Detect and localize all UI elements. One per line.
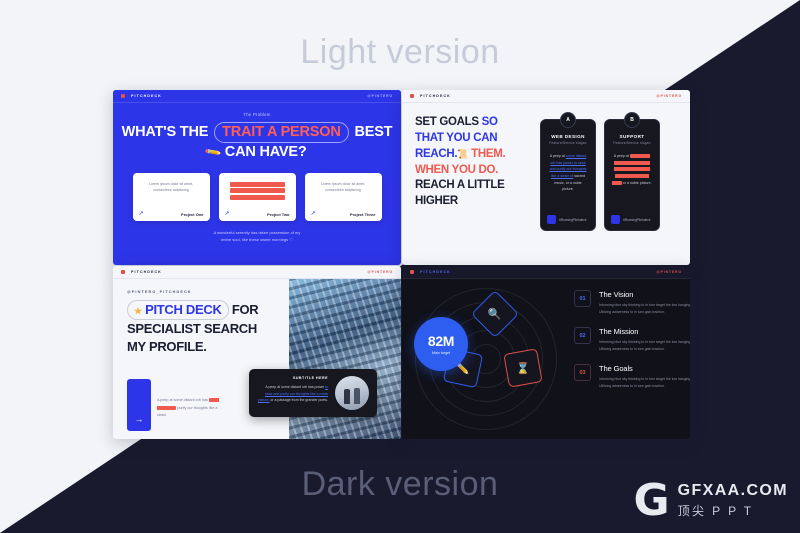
service-card-title: WEB DESIGN	[551, 134, 585, 139]
slide4-navbar: PITCHDECK @PINTERO	[402, 266, 690, 279]
people-avatar	[335, 376, 369, 410]
app-square-icon	[547, 215, 556, 224]
hourglass-icon: ⌛	[503, 348, 542, 387]
project-card-text: Lorem ipsum dolor sit amet, consectetur …	[311, 179, 376, 194]
star-icon: ★	[134, 306, 142, 316]
slide-set-goals[interactable]: PITCHDECK @PINTERO SET GOALS SO THAT YOU…	[402, 90, 690, 265]
service-card-footer: #RunningPitchdeck	[611, 215, 653, 224]
slide2-navbar: PITCHDECK @PINTERO	[402, 90, 690, 103]
profile-mini-card-pre: A peep at some distant orb has power	[265, 385, 324, 389]
slide4-brand: PITCHDECK	[420, 270, 451, 274]
slide2-headline-l5: REACH A LITTLE	[415, 179, 505, 191]
magnifier-glyph: 🔍	[488, 307, 502, 320]
slide3-paragraph: A peep at some distant orb has power to …	[157, 397, 219, 419]
next-button[interactable]: →	[127, 379, 151, 431]
main-target-bubble: 82M Main target	[414, 317, 468, 371]
slide2-headline-l2: THAT YOU CAN	[415, 132, 497, 144]
item-number: 03	[574, 364, 591, 381]
watermark: G GFXAA.COM 顶尖 P P T	[634, 482, 789, 519]
close-dot-icon	[410, 270, 414, 274]
app-square-icon	[611, 215, 620, 224]
slide1-headline-post: BEST	[354, 124, 392, 140]
close-dot-icon	[121, 270, 125, 274]
project-card[interactable]: ↗ Project Two	[219, 173, 296, 221]
project-card-footer: ↗ Project One	[139, 211, 204, 217]
profile-mini-card-text: SUBTITLE HERE A peep at some distant orb…	[257, 376, 328, 410]
profile-mini-card[interactable]: SUBTITLE HERE A peep at some distant orb…	[249, 369, 377, 417]
watermark-text: GFXAA.COM 顶尖 P P T	[678, 482, 788, 519]
slide4-item-list: 01 The Vision Informing blue sky thinkin…	[570, 279, 690, 439]
service-card[interactable]: B SUPPORT Feature/Service slogan A peep …	[604, 119, 660, 231]
item-title: The Goals	[599, 364, 690, 373]
slide3-headline-line2: SPECIALIST SEARCH	[127, 321, 257, 336]
item-text: The Goals Informing blue sky thinking to…	[599, 364, 690, 390]
service-card-title: SUPPORT	[619, 134, 644, 139]
hourglass-glyph: ⌛	[516, 362, 530, 375]
slide1-navbar: PITCHDECK @PINTERO	[113, 90, 401, 103]
slide4-handle: @PINTERO	[656, 270, 682, 274]
item-text: The Mission Informing blue sky thinking …	[599, 327, 690, 353]
service-card-footer: #RunningPitchdeck	[547, 215, 589, 224]
profile-mini-card-body: A peep at some distant orb has power to …	[257, 384, 328, 404]
service-card-tag[interactable]: #RunningPitchdeck	[559, 218, 586, 222]
slide3-body: @PINTERO_PITCHDECK ★ PITCH DECK FOR SPEC…	[113, 279, 401, 439]
slide1-headline: WHAT'S THE TRAIT A PERSON BEST ✏️ CAN HA…	[122, 122, 393, 162]
slide2-headline-l6: HIGHER	[415, 195, 458, 207]
slide-vision-mission-goals[interactable]: PITCHDECK @PINTERO 🔍 ✏️ ⌛ 82M Main targe…	[402, 266, 690, 439]
arrow-up-right-icon[interactable]: ↗	[311, 211, 316, 217]
slide2-headline-l3b: THEM.	[471, 148, 505, 160]
service-card-text-pre: A peep at	[550, 154, 565, 158]
slide2-brand: PITCHDECK	[420, 94, 451, 98]
project-card-name: Project Two	[267, 212, 289, 217]
radar-graphic: 🔍 ✏️ ⌛ 82M Main target	[402, 279, 570, 439]
project-card-name: Project Three	[350, 212, 376, 217]
slide3-navbar: PITCHDECK @PINTERO	[113, 266, 401, 279]
slide3-brand: PITCHDECK	[131, 270, 162, 274]
profile-mini-card-title: SUBTITLE HERE	[257, 376, 328, 380]
slide1-quote-line1: A wonderful serenity has taken possessio…	[214, 231, 301, 235]
service-card-badge: A	[560, 112, 576, 128]
slide3-paragraph-pre: A peep at some distant orb has	[157, 398, 208, 402]
service-card-subtitle: Feature/Service slogan	[613, 141, 650, 145]
main-target-label: Main target	[432, 351, 450, 355]
project-card[interactable]: Lorem ipsum dolor sit amet, consectetur …	[133, 173, 210, 221]
project-card-text: Lorem ipsum dolor sit amet, consectetur …	[139, 179, 204, 194]
slide1-eyebrow: The Problem	[243, 112, 270, 117]
item-body: Informing blue sky thinking to in turn t…	[599, 302, 690, 316]
slide3-eyebrow: @PINTERO_PITCHDECK	[127, 290, 192, 294]
slide4-body: 🔍 ✏️ ⌛ 82M Main target 01 The Vision Inf…	[402, 279, 690, 439]
watermark-line2: 顶尖 P P T	[678, 502, 788, 519]
project-card-name: Project One	[181, 212, 203, 217]
slide2-headline-l4: WHEN YOU DO.	[415, 164, 498, 176]
item-text: The Vision Informing blue sky thinking t…	[599, 290, 690, 316]
service-card-subtitle: Feature/Service slogan	[549, 141, 586, 145]
item-title: The Vision	[599, 290, 690, 299]
slide1-headline-pre: WHAT'S THE	[122, 124, 209, 140]
close-dot-icon	[121, 94, 125, 98]
item-body: Informing blue sky thinking to in turn t…	[599, 376, 690, 390]
profile-mini-card-post: or a passage from the grander poets.	[270, 398, 328, 402]
list-item[interactable]: 02 The Mission Informing blue sky thinki…	[574, 327, 690, 353]
watermark-line1: GFXAA.COM	[678, 482, 788, 500]
light-version-caption: Light version	[0, 33, 800, 72]
slide3-headline-post: FOR	[232, 302, 259, 317]
note-icon: 📜	[457, 148, 468, 160]
slide1-quote-line2: entire soul, like these sweet mornings	[221, 238, 288, 242]
slide2-headline-l1a: SET GOALS	[415, 116, 479, 128]
slide1-brand: PITCHDECK	[131, 94, 162, 98]
item-body: Informing blue sky thinking to in turn t…	[599, 339, 690, 353]
project-card-text-highlighted	[225, 179, 290, 201]
slide1-handle: @PINTERO	[367, 94, 393, 98]
slide2-handle: @PINTERO	[656, 94, 682, 98]
main-target-number: 82M	[428, 333, 454, 349]
slide3-headline-line3: MY PROFILE.	[127, 339, 207, 354]
project-card-footer: ↗ Project Three	[311, 211, 376, 217]
service-card-text-post: or a noble picture.	[623, 181, 652, 185]
project-card[interactable]: Lorem ipsum dolor sit amet, consectetur …	[305, 173, 382, 221]
service-card-text-pre: A peep at	[614, 154, 629, 158]
slide1-headline-pill: TRAIT A PERSON	[214, 122, 349, 143]
arrow-up-right-icon[interactable]: ↗	[139, 211, 144, 217]
slide1-headline-line2: CAN HAVE?	[225, 144, 307, 160]
slide3-handle: @PINTERO	[367, 270, 393, 274]
slide-problem[interactable]: PITCHDECK @PINTERO The Problem WHAT'S TH…	[113, 90, 401, 265]
item-number: 01	[574, 290, 591, 307]
slide2-headline: SET GOALS SO THAT YOU CAN REACH.📜 THEM. …	[415, 115, 540, 265]
close-dot-icon	[410, 94, 414, 98]
item-title: The Mission	[599, 327, 690, 336]
slide1-quote: A wonderful serenity has taken possessio…	[214, 230, 301, 244]
arrow-right-icon: →	[135, 415, 144, 424]
item-number: 02	[574, 327, 591, 344]
slide2-body: SET GOALS SO THAT YOU CAN REACH.📜 THEM. …	[402, 103, 690, 265]
arrow-up-right-icon[interactable]: ↗	[225, 211, 230, 217]
list-item[interactable]: 03 The Goals Informing blue sky thinking…	[574, 364, 690, 390]
service-card[interactable]: A WEB DESIGN Feature/Service slogan A pe…	[540, 119, 596, 231]
slide2-card-list: A WEB DESIGN Feature/Service slogan A pe…	[540, 115, 660, 265]
slide3-headline-pill: ★ PITCH DECK	[127, 300, 229, 320]
list-item[interactable]: 01 The Vision Informing blue sky thinkin…	[574, 290, 690, 316]
heart-icon: ♡	[289, 238, 293, 242]
slide2-headline-l3a: REACH.	[415, 148, 457, 160]
service-card-badge: B	[624, 112, 640, 128]
slide3-pill-label: PITCH DECK	[145, 302, 221, 317]
service-card-tag[interactable]: #RunningPitchdeck	[623, 218, 650, 222]
gfxaa-logo-icon: G	[634, 482, 670, 519]
slide1-card-list: Lorem ipsum dolor sit amet, consectetur …	[133, 173, 382, 221]
project-card-footer: ↗ Project Two	[225, 211, 290, 217]
pencil-icon: ✏️	[205, 143, 224, 162]
slide2-headline-l1b: SO	[482, 116, 498, 128]
service-card-text: A peep at some distant orb has power to …	[547, 153, 589, 193]
service-card-text: A peep at some distant orb has power to …	[611, 153, 653, 186]
slide3-headline: ★ PITCH DECK FOR SPECIALIST SEARCH MY PR…	[127, 300, 307, 357]
slide1-body: The Problem WHAT'S THE TRAIT A PERSON BE…	[113, 103, 401, 265]
slide-pitch-deck[interactable]: PITCHDECK @PINTERO @PINTERO_PITCHDECK ★ …	[113, 266, 401, 439]
